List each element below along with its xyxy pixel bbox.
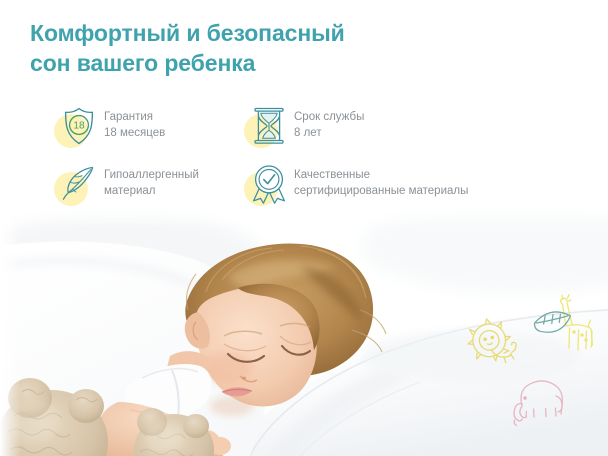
hourglass-icon [246,103,292,149]
feature-line-1: Срок службы [294,111,364,123]
feature-line-1: Гарантия [104,111,153,123]
feature-line-2: сертифицированные материалы [294,184,468,200]
feature-item-service-life: Срок службы 8 лет [246,104,496,162]
shield-badge-number: 18 [73,121,85,132]
page-title-line-1: Комфортный и безопасный [30,18,450,48]
page-title-line-2: сон вашего ребенка [30,48,450,78]
feature-label-certified: Качественные сертифицированные материалы [292,162,468,199]
feature-item-guarantee: 18 Гарантия 18 месяцев [56,104,246,162]
promo-banner: Комфортный и безопасный сон вашего ребен… [0,0,608,456]
feature-line-2: 8 лет [294,126,364,142]
feather-icon [56,161,102,207]
shield-18-icon: 18 [56,103,102,149]
feature-line-2: 18 месяцев [104,126,165,142]
feature-list: 18 Гарантия 18 месяцев [56,104,556,220]
page-title: Комфортный и безопасный сон вашего ребен… [30,18,450,78]
feature-label-service-life: Срок службы 8 лет [292,104,364,141]
award-rosette-check-icon [246,161,292,207]
feature-line-1: Качественные [294,169,370,181]
feature-label-hypoallergenic: Гипоаллергенный материал [102,162,199,199]
feature-line-2: материал [104,184,199,200]
feature-line-1: Гипоаллергенный [104,169,199,181]
feature-label-guarantee: Гарантия 18 месяцев [102,104,165,141]
hero-photo: Спящий ребенок на белой подушке с мягкой… [0,206,608,456]
